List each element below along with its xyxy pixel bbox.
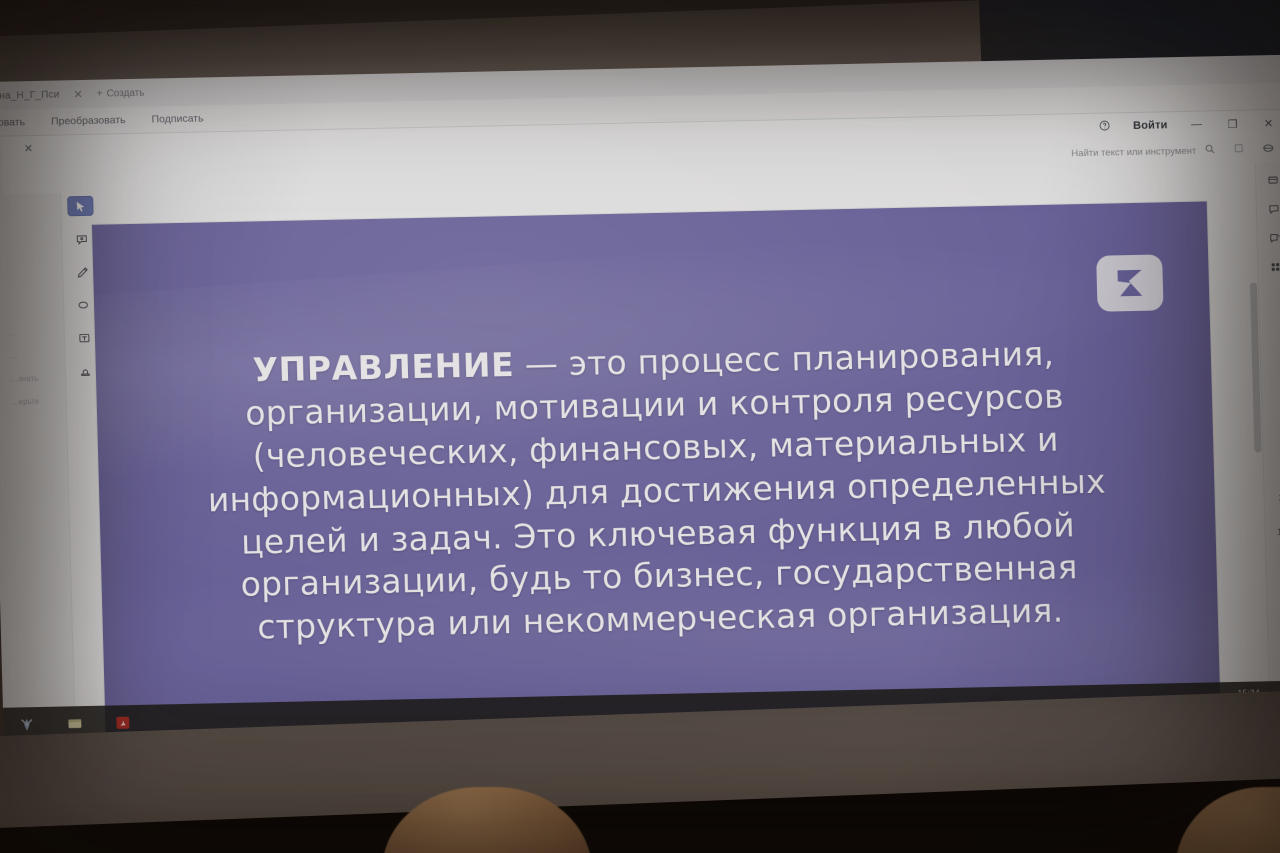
ellipse-icon[interactable] xyxy=(70,295,97,316)
cmd-convert-button[interactable]: Преобразовать xyxy=(51,114,126,128)
stylized-3-logo xyxy=(1096,254,1164,311)
tab-document-title[interactable]: ...на_Н_Г_Пси xyxy=(0,89,60,101)
taskbar-file-explorer[interactable] xyxy=(59,711,90,736)
projection-screen: ...на_Н_Г_Пси ✕ + Создать ...овать Преоб… xyxy=(0,55,1280,742)
search-input[interactable]: Найти текст или инструмент xyxy=(1071,145,1196,159)
sign-icon[interactable] xyxy=(1268,232,1280,244)
stamp-icon[interactable] xyxy=(72,361,99,382)
left-panel-label-1: … xyxy=(9,327,64,337)
room-photo: ...на_Н_Г_Пси ✕ + Создать ...овать Преоб… xyxy=(0,0,1280,853)
document-tab-close-icon[interactable]: ✕ xyxy=(24,142,34,155)
cmd-edit-button[interactable]: ...овать xyxy=(0,116,25,129)
plus-icon: + xyxy=(97,88,103,99)
left-panel-label-3: …знать xyxy=(10,373,65,383)
search-icon[interactable] xyxy=(1204,143,1215,157)
grid-icon[interactable] xyxy=(1269,261,1280,273)
new-tab-button[interactable]: + Создать xyxy=(97,87,145,99)
taskbar-yandex-browser[interactable] xyxy=(11,712,42,737)
acrobat-application-window: ...на_Н_Г_Пси ✕ + Создать ...овать Преоб… xyxy=(0,55,1280,742)
annotation-icon[interactable] xyxy=(1262,142,1274,157)
cursor-icon[interactable] xyxy=(67,196,94,217)
comment-bubble-icon[interactable] xyxy=(1267,203,1279,215)
window-close-button[interactable]: ✕ xyxy=(1261,117,1275,130)
window-restore-button[interactable]: ❐ xyxy=(1225,117,1239,130)
comment-icon[interactable] xyxy=(68,229,95,250)
pen-icon[interactable] xyxy=(69,262,96,283)
document-window: ✕ Войти — ❐ ✕ Найти текст или инструмент xyxy=(1,109,1280,742)
page-view-icon[interactable] xyxy=(1233,143,1244,157)
left-panel-label-4: …ерьте xyxy=(11,396,66,406)
new-tab-label: Создать xyxy=(106,87,144,99)
cmd-sign-button[interactable]: Подписать xyxy=(151,112,203,125)
rail-spacer xyxy=(1276,290,1280,473)
help-circle-icon[interactable] xyxy=(1099,119,1111,134)
slide-lead-word: УПРАВЛЕНИЕ xyxy=(252,345,515,389)
pdf-page-slide[interactable]: УПРАВЛЕНИЕ — это процесс планирования, о… xyxy=(92,201,1221,734)
tab-close-icon[interactable]: ✕ xyxy=(73,87,83,100)
thumbnails-icon[interactable] xyxy=(1266,174,1278,186)
search-field[interactable]: Найти текст или инструмент xyxy=(1071,143,1215,160)
left-panel-label-2: … xyxy=(9,350,64,360)
textbox-icon[interactable] xyxy=(71,328,98,349)
slide-body-text: УПРАВЛЕНИЕ — это процесс планирования, о… xyxy=(185,331,1130,651)
window-minimize-button[interactable]: — xyxy=(1189,119,1203,131)
sign-in-button[interactable]: Войти xyxy=(1133,119,1168,132)
